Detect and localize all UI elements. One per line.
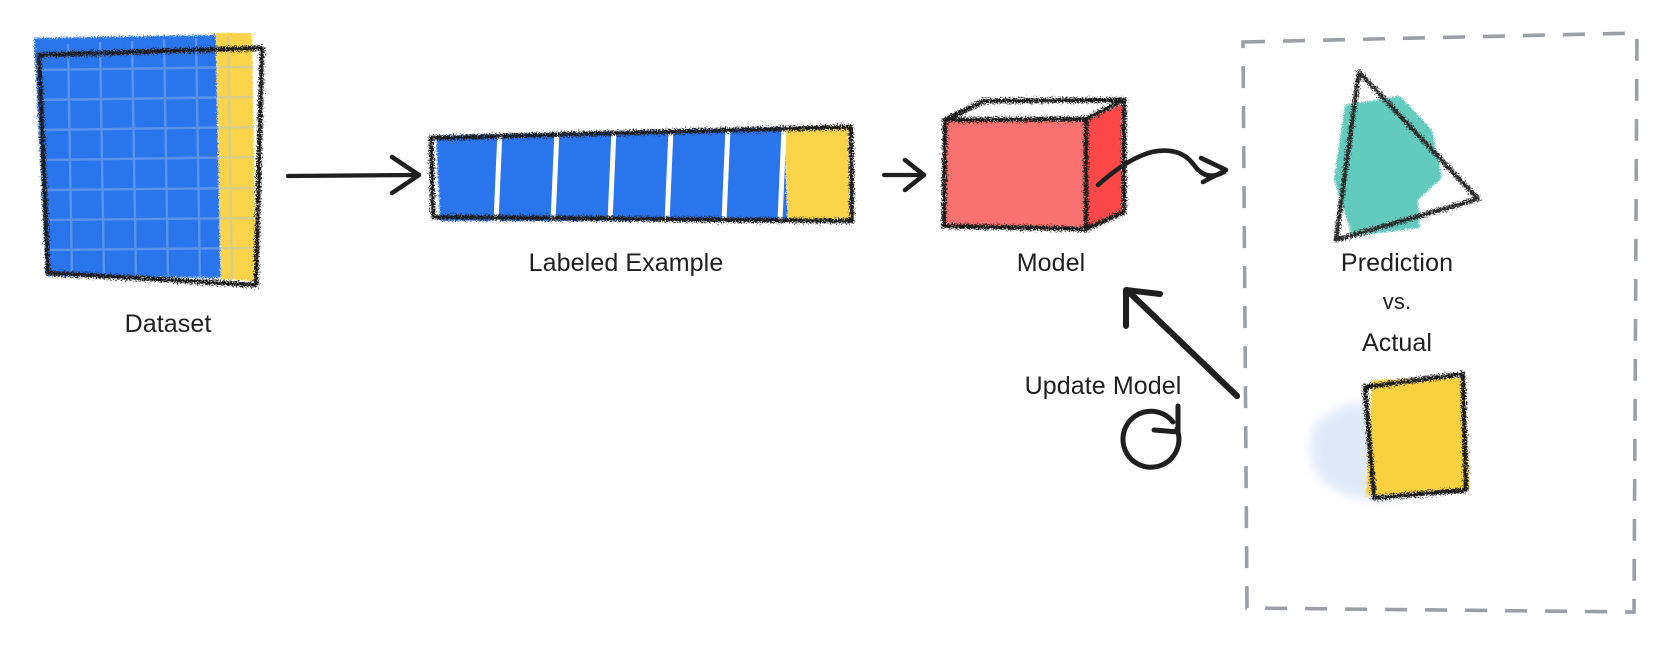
dataset-node	[34, 33, 262, 285]
arrow-dataset-to-example	[288, 157, 419, 193]
diagram-canvas: Dataset Labeled Example Model Prediction…	[0, 0, 1660, 668]
arrow-example-to-model	[884, 160, 924, 190]
evaluation-dashed-panel	[1243, 33, 1637, 612]
model-side-fill	[1085, 104, 1122, 228]
actual-shape	[1310, 374, 1470, 500]
labeled-example-node	[431, 126, 852, 222]
actual-label: Actual	[1362, 330, 1432, 358]
dataset-feature-fill	[34, 35, 221, 278]
model-label: Model	[1017, 250, 1086, 278]
labeled-example-label-fill	[784, 126, 850, 221]
model-front-fill	[944, 120, 1085, 228]
prediction-label: Prediction	[1341, 250, 1453, 278]
refresh-circle-icon	[1123, 406, 1179, 467]
dataset-label: Dataset	[125, 311, 212, 339]
labeled-example-label: Labeled Example	[529, 250, 724, 278]
vs-label: vs.	[1383, 290, 1411, 314]
prediction-shape	[1334, 72, 1478, 240]
actual-yellow-fill	[1366, 378, 1470, 496]
model-node	[944, 100, 1124, 229]
update-model-label: Update Model	[1025, 373, 1182, 401]
